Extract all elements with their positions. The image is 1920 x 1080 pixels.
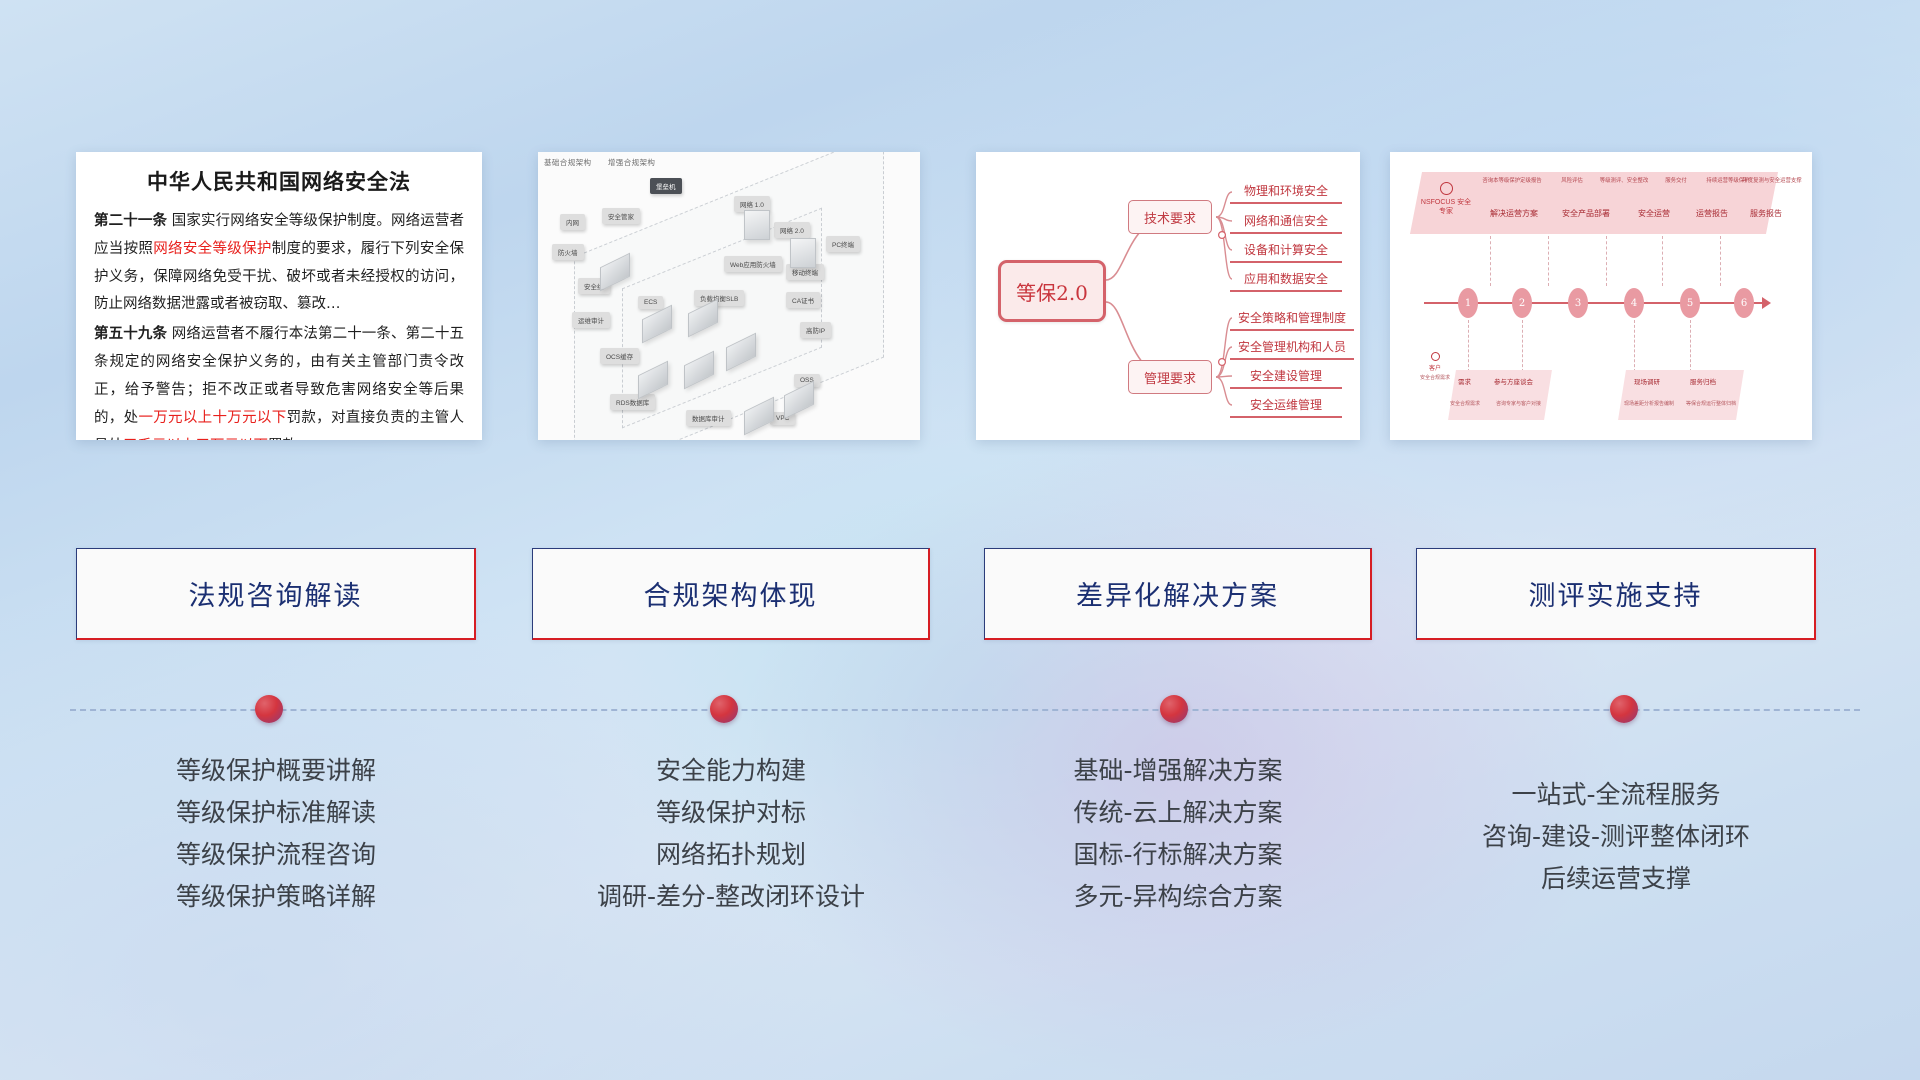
roadmap-step-3[interactable]: 3 bbox=[1568, 288, 1588, 318]
list-item: 基础-增强解决方案 bbox=[984, 750, 1372, 792]
mindmap-branch-management[interactable]: 管理要求 bbox=[1128, 360, 1212, 394]
detail-list-legal: 等级保护概要讲解 等级保护标准解读 等级保护流程咨询 等级保护策略详解 bbox=[76, 750, 476, 918]
roadmap-bottom-title-1: 需求 bbox=[1458, 376, 1471, 386]
detail-list-solution: 基础-增强解决方案 传统-云上解决方案 国标-行标解决方案 多元-异构综合方案 bbox=[984, 750, 1372, 918]
architecture-chip-ca: CA证书 bbox=[786, 292, 820, 308]
architecture-node-icon-1 bbox=[744, 210, 770, 240]
mindmap-leaf-network[interactable]: 网络和通信安全 bbox=[1230, 208, 1342, 234]
list-item: 咨询-建设-测评整体闭环 bbox=[1416, 816, 1816, 858]
mindmap-leaf-operations[interactable]: 安全运维管理 bbox=[1230, 392, 1342, 418]
mindmap-card[interactable]: 等保2.0 技术要求 管理要求 物理和环境安全 网络和通信安全 设备和计算安全 … bbox=[976, 152, 1360, 440]
roadmap-step-1[interactable]: 1 bbox=[1458, 288, 1478, 318]
law-highlight-1: 网络安全等级保护 bbox=[153, 241, 272, 257]
architecture-chip-waf: Web应用防火墙 bbox=[724, 256, 782, 272]
list-item: 等级保护策略详解 bbox=[76, 876, 476, 918]
list-item: 网络拓扑规划 bbox=[532, 834, 930, 876]
architecture-chip-firewall: 防火墙 bbox=[552, 244, 584, 260]
roadmap-bottom-title-3: 现场调研 bbox=[1634, 376, 1660, 386]
mindmap-leaf-org[interactable]: 安全管理机构和人员 bbox=[1230, 334, 1354, 360]
mindmap-leaf-construction[interactable]: 安全建设管理 bbox=[1230, 363, 1342, 389]
architecture-chip-intranet: 内网 bbox=[560, 214, 585, 230]
list-item: 多元-异构综合方案 bbox=[984, 876, 1372, 918]
mindmap-leaf-device[interactable]: 设备和计算安全 bbox=[1230, 237, 1342, 263]
architecture-chip-net2: 网络 2.0 bbox=[774, 222, 810, 238]
list-item: 一站式-全流程服务 bbox=[1416, 774, 1816, 816]
person-icon bbox=[1431, 352, 1440, 361]
detail-list-assessment: 一站式-全流程服务 咨询-建设-测评整体闭环 后续运营支撑 bbox=[1416, 750, 1816, 900]
law-card[interactable]: 中华人民共和国网络安全法 第二十一条 国家实行网络安全等级保护制度。网络运营者应… bbox=[76, 152, 482, 440]
mindmap-leaf-application[interactable]: 应用和数据安全 bbox=[1230, 266, 1342, 292]
timeline bbox=[0, 690, 1920, 730]
architecture-chip-highdefense: 高防IP bbox=[800, 322, 831, 338]
section-header-solution[interactable]: 差异化解决方案 bbox=[984, 548, 1372, 640]
card-row: 中华人民共和国网络安全法 第二十一条 国家实行网络安全等级保护制度。网络运营者应… bbox=[0, 0, 1920, 440]
architecture-chip-ocs: OCS缓存 bbox=[600, 348, 639, 364]
section-header-architecture[interactable]: 合规架构体现 bbox=[532, 548, 930, 640]
roadmap-bottom-title-2: 参与方座谈会 bbox=[1494, 376, 1533, 386]
list-item: 传统-云上解决方案 bbox=[984, 792, 1372, 834]
law-article-label-2: 第五十九条 bbox=[94, 326, 167, 342]
roadmap-tick-4 bbox=[1662, 236, 1663, 286]
section-header-assessment[interactable]: 测评实施支持 bbox=[1416, 548, 1816, 640]
mindmap-leaf-physical[interactable]: 物理和环境安全 bbox=[1230, 178, 1342, 204]
roadmap-band-label-5: 服务报告 bbox=[1734, 208, 1798, 219]
timeline-line bbox=[70, 709, 1860, 711]
list-item: 等级保护流程咨询 bbox=[76, 834, 476, 876]
architecture-header: 基础合规架构 增强合规架构 bbox=[544, 157, 669, 168]
roadmap-drop-2 bbox=[1522, 320, 1523, 372]
roadmap-card[interactable]: NSFOCUS 安全专家 咨询本等级保护定级报告 风险评估 等级测评、安全整改 … bbox=[1390, 152, 1812, 440]
architecture-chip-steward: 安全管家 bbox=[602, 208, 640, 224]
architecture-card[interactable]: 基础合规架构 增强合规架构 堡垒机 安全管家 内网 防火墙 安全组 运维审计 网… bbox=[538, 152, 920, 440]
law-paragraph-1: 第二十一条 国家实行网络安全等级保护制度。网络运营者应当按照网络安全等级保护制度… bbox=[94, 208, 464, 319]
section-header-row: 法规咨询解读 合规架构体现 差异化解决方案 测评实施支持 bbox=[0, 548, 1920, 658]
roadmap-drop-4 bbox=[1690, 320, 1691, 372]
section-header-legal[interactable]: 法规咨询解读 bbox=[76, 548, 476, 640]
roadmap-arrow-icon bbox=[1762, 297, 1771, 309]
timeline-dot-4[interactable] bbox=[1610, 695, 1638, 723]
list-item: 后续运营支撑 bbox=[1416, 858, 1816, 900]
roadmap-customer-caption: 安全合规需求 bbox=[1418, 374, 1452, 381]
mindmap-root-node[interactable]: 等保2.0 bbox=[998, 260, 1106, 322]
mindmap-branch-technical[interactable]: 技术要求 bbox=[1128, 200, 1212, 234]
architecture-chip-audit: 运维审计 bbox=[572, 312, 610, 328]
roadmap-drop-3 bbox=[1634, 320, 1635, 372]
roadmap-step-2[interactable]: 2 bbox=[1512, 288, 1532, 318]
roadmap-bottom-sub-3: 现场差距分析报告编制 bbox=[1624, 400, 1674, 407]
mindmap: 等保2.0 技术要求 管理要求 物理和环境安全 网络和通信安全 设备和计算安全 … bbox=[976, 152, 1360, 440]
roadmap-step-4[interactable]: 4 bbox=[1624, 288, 1644, 318]
roadmap-step-6[interactable]: 6 bbox=[1734, 288, 1754, 318]
section-header-solution-label: 差异化解决方案 bbox=[1076, 574, 1279, 613]
roadmap-bottom-sub-1: 安全合规需求 bbox=[1450, 400, 1480, 407]
roadmap-top-label-4: 服务交付 bbox=[1646, 178, 1706, 185]
list-item: 等级保护对标 bbox=[532, 792, 930, 834]
roadmap-top-label-1: 咨询本等级保护定级报告 bbox=[1482, 178, 1542, 185]
roadmap-tick-3 bbox=[1606, 236, 1607, 286]
architecture-chip-dbaudit: 数据库审计 bbox=[686, 410, 731, 426]
roadmap-tick-5 bbox=[1720, 236, 1721, 286]
roadmap-top-label-6: 年度复测与安全运营支撑 bbox=[1742, 178, 1802, 185]
law-title: 中华人民共和国网络安全法 bbox=[94, 166, 464, 196]
roadmap-band-label-1: 解决运营方案 bbox=[1482, 208, 1546, 219]
list-item: 调研-差分-整改闭环设计 bbox=[532, 876, 930, 918]
expert-icon bbox=[1440, 182, 1453, 195]
timeline-dot-2[interactable] bbox=[710, 695, 738, 723]
timeline-dot-1[interactable] bbox=[255, 695, 283, 723]
roadmap-diagram: NSFOCUS 安全专家 咨询本等级保护定级报告 风险评估 等级测评、安全整改 … bbox=[1390, 152, 1812, 440]
law-article-label-1: 第二十一条 bbox=[94, 213, 167, 229]
section-header-assessment-label: 测评实施支持 bbox=[1529, 574, 1703, 613]
roadmap-step-5[interactable]: 5 bbox=[1680, 288, 1700, 318]
roadmap-brand-badge: NSFOCUS 安全专家 bbox=[1420, 182, 1472, 226]
roadmap-band-label-3: 安全运营 bbox=[1622, 208, 1686, 219]
roadmap-drop-1 bbox=[1468, 320, 1469, 372]
roadmap-band-label-2: 安全产品部署 bbox=[1554, 208, 1618, 219]
detail-columns: 等级保护概要讲解 等级保护标准解读 等级保护流程咨询 等级保护策略详解 安全能力… bbox=[0, 750, 1920, 980]
roadmap-customer: 客户 安全合规需求 bbox=[1418, 352, 1452, 381]
roadmap-bottom-title-4: 服务归档 bbox=[1690, 376, 1716, 386]
roadmap-top-label-3: 等级测评、安全整改 bbox=[1594, 178, 1654, 185]
section-header-legal-label: 法规咨询解读 bbox=[189, 574, 363, 613]
architecture-chip-slb: 负载均衡SLB bbox=[694, 290, 744, 306]
roadmap-top-label-2: 风险评估 bbox=[1542, 178, 1602, 185]
architecture-header-right: 增强合规架构 bbox=[608, 158, 655, 167]
roadmap-tick-1 bbox=[1490, 236, 1491, 286]
roadmap-bottom-sub-4: 等保合规运行整体归档 bbox=[1686, 400, 1736, 407]
architecture-chip-rds: RDS数据库 bbox=[610, 394, 655, 410]
architecture-chip-pc: PC终端 bbox=[826, 236, 860, 252]
law-paragraph-2: 第五十九条 网络运营者不履行本法第二十一条、第二十五条规定的网络安全保护义务的，… bbox=[94, 321, 464, 440]
law-highlight-2a: 一万元以上十万元以下 bbox=[138, 410, 286, 426]
list-item: 安全能力构建 bbox=[532, 750, 930, 792]
list-item: 等级保护标准解读 bbox=[76, 792, 476, 834]
timeline-dot-3[interactable] bbox=[1160, 695, 1188, 723]
mindmap-leaf-policy[interactable]: 安全策略和管理制度 bbox=[1230, 305, 1354, 331]
architecture-chip-bastion: 堡垒机 bbox=[650, 178, 682, 194]
section-header-architecture-label: 合规架构体现 bbox=[644, 574, 818, 613]
detail-list-architecture: 安全能力构建 等级保护对标 网络拓扑规划 调研-差分-整改闭环设计 bbox=[532, 750, 930, 918]
list-item: 等级保护概要讲解 bbox=[76, 750, 476, 792]
architecture-header-left: 基础合规架构 bbox=[544, 158, 591, 167]
roadmap-customer-role: 客户 bbox=[1418, 363, 1452, 372]
law-text-2c: 罚款。 bbox=[268, 438, 312, 440]
roadmap-bottom-sub-2: 咨询专家与客户对接 bbox=[1496, 400, 1541, 407]
architecture-diagram: 基础合规架构 增强合规架构 堡垒机 安全管家 内网 防火墙 安全组 运维审计 网… bbox=[538, 152, 920, 440]
list-item: 国标-行标解决方案 bbox=[984, 834, 1372, 876]
law-highlight-2b: 五千元以上五万元以下 bbox=[123, 438, 268, 440]
roadmap-tick-2 bbox=[1548, 236, 1549, 286]
roadmap-brand-label: NSFOCUS 安全专家 bbox=[1421, 199, 1471, 215]
architecture-chip-ecs: ECS bbox=[638, 296, 663, 309]
law-body: 中华人民共和国网络安全法 第二十一条 国家实行网络安全等级保护制度。网络运营者应… bbox=[76, 152, 482, 440]
architecture-node-icon-2 bbox=[790, 238, 816, 268]
